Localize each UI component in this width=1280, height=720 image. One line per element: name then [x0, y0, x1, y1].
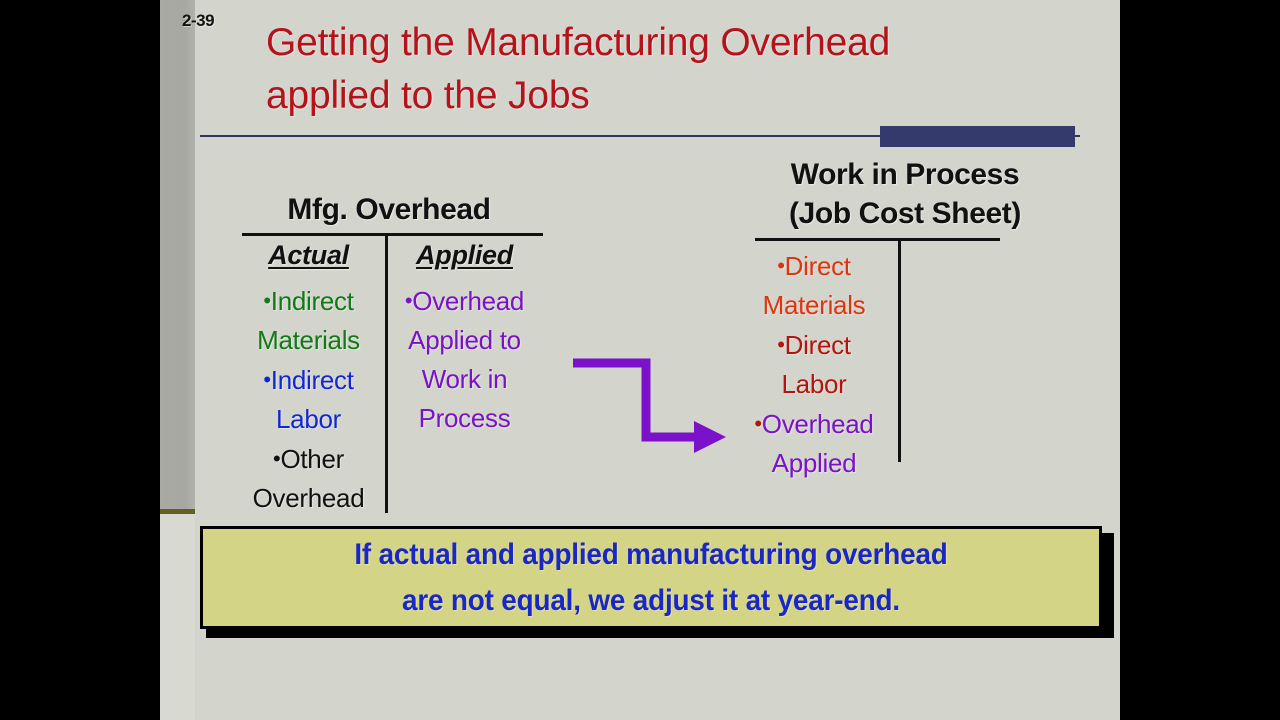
list-item: •Direct: [730, 246, 898, 286]
mfg-overhead-title: Mfg. Overhead: [234, 193, 544, 227]
list-item-continuation: Overhead: [236, 479, 381, 518]
list-item-continuation: Applied: [730, 444, 898, 483]
slide-number: 2-39: [182, 11, 214, 31]
work-in-process-account: Work in Process (Job Cost Sheet): [740, 155, 1070, 233]
list-item: •Direct: [730, 325, 898, 365]
arrowhead-icon: [694, 421, 726, 453]
callout-box: If actual and applied manufacturing over…: [200, 526, 1102, 629]
page-title: Getting the Manufacturing Overhead appli…: [266, 16, 1046, 122]
mfg-overhead-column-actual: Actual •Indirect Materials •Indirect Lab…: [236, 240, 381, 518]
overhead-applied-arrow: [560, 350, 740, 460]
mfg-overhead-column-applied: Applied •Overhead Applied to Work in Pro…: [392, 240, 537, 438]
mfg-overhead-top-rule: [242, 233, 543, 236]
list-item-text: Indirect: [271, 286, 354, 316]
page-title-line-1: Getting the Manufacturing Overhead: [266, 16, 1046, 69]
title-accent-block: [880, 126, 1075, 147]
mfg-overhead-vertical-divider: [385, 236, 388, 513]
column-header-applied: Applied: [392, 240, 537, 271]
work-in-process-items: •Direct Materials •Direct Labor •Overhea…: [730, 246, 898, 483]
work-in-process-top-rule: [755, 238, 1000, 241]
column-header-actual: Actual: [236, 240, 381, 271]
work-in-process-title: Work in Process (Job Cost Sheet): [740, 155, 1070, 233]
mfg-overhead-account: Mfg. Overhead: [234, 193, 544, 227]
page-title-line-2: applied to the Jobs: [266, 69, 1046, 122]
callout-text: If actual and applied manufacturing over…: [341, 532, 960, 624]
list-item: •Overhead: [392, 281, 537, 321]
template-left-strip: [160, 0, 195, 509]
slide-canvas: 2-39 Getting the Manufacturing Overhead …: [160, 0, 1120, 720]
list-item-text: Direct: [785, 251, 851, 281]
list-item-text: Overhead: [412, 286, 524, 316]
screen: 2-39 Getting the Manufacturing Overhead …: [0, 0, 1280, 720]
list-item-continuation: Labor: [236, 400, 381, 439]
list-item-text: Other: [280, 444, 344, 474]
work-in-process-title-line-1: Work in Process: [740, 155, 1070, 194]
bullet-icon: •: [263, 367, 270, 392]
mfg-overhead-actual-items: •Indirect Materials •Indirect Labor •Oth…: [236, 281, 381, 518]
bullet-icon: •: [777, 253, 784, 278]
bullet-icon: •: [263, 288, 270, 313]
list-item-continuation: Materials: [236, 321, 381, 360]
work-in-process-vertical-divider: [898, 240, 901, 462]
work-in-process-title-line-2: (Job Cost Sheet): [740, 194, 1070, 233]
list-item: •Overhead: [730, 404, 898, 444]
list-item-text: Direct: [785, 330, 851, 360]
list-item-text: Indirect: [271, 365, 354, 395]
list-item-continuation: Labor: [730, 365, 898, 404]
mfg-overhead-applied-items: •Overhead Applied to Work in Process: [392, 281, 537, 438]
list-item-text: Overhead: [762, 409, 874, 439]
template-left-strip-lower: [160, 514, 195, 720]
list-item: •Indirect: [236, 281, 381, 321]
list-item-continuation: Materials: [730, 286, 898, 325]
callout-line-2: are not equal, we adjust it at year-end.: [354, 578, 947, 624]
bullet-icon: •: [754, 411, 761, 436]
list-item-continuation: Applied to: [392, 321, 537, 360]
list-item: •Other: [236, 439, 381, 479]
bullet-icon: •: [777, 332, 784, 357]
list-item-continuation: Process: [392, 399, 537, 438]
list-item: •Indirect: [236, 360, 381, 400]
callout-line-1: If actual and applied manufacturing over…: [354, 532, 947, 578]
list-item-continuation: Work in: [392, 360, 537, 399]
